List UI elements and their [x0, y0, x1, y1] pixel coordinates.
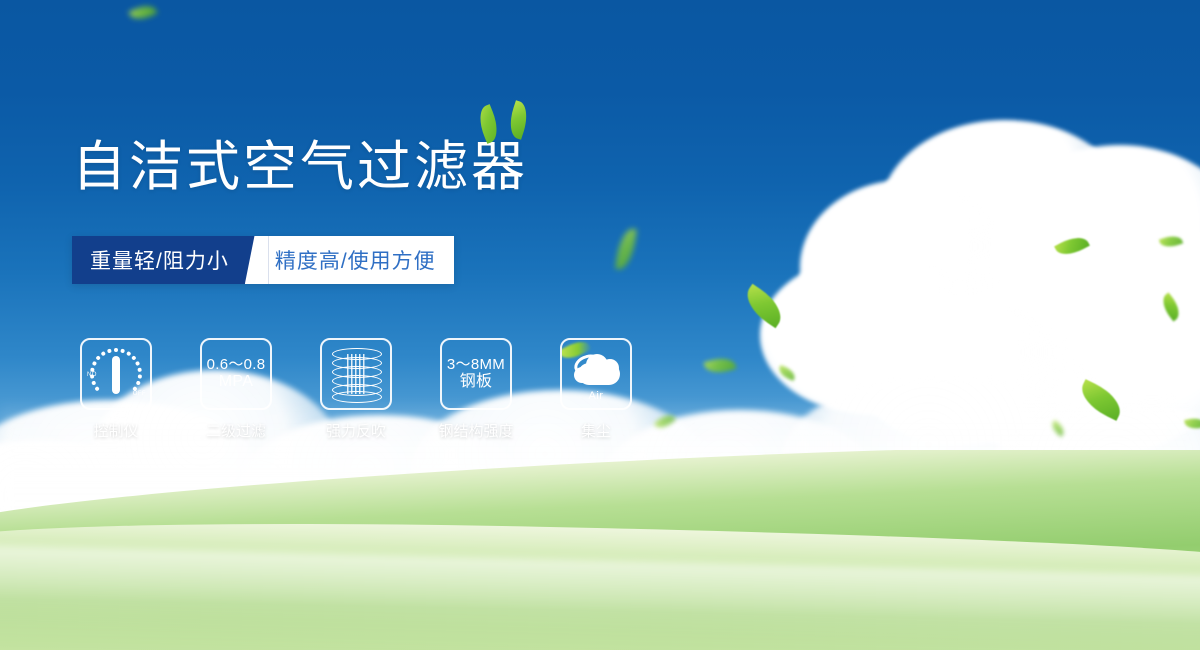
feature-item-controller: NO OFF 控制仪: [80, 338, 152, 441]
tagline-bar: 重量轻/阻力小 精度高/使用方便: [72, 236, 454, 284]
gauge-icon: NO OFF: [88, 346, 144, 402]
feature-item-dust: Air 集尘: [560, 338, 632, 441]
floating-leaf: [615, 227, 637, 271]
headline-block: 自洁式空气过滤器: [72, 140, 528, 194]
cloud-puff: [800, 180, 1010, 355]
feature-list: NO OFF 控制仪 0.6～0.8 MPA 二级过滤: [80, 338, 632, 441]
cloud-puff: [990, 145, 1200, 360]
gauge-needle: [112, 356, 120, 394]
feature-item-steel: 3～8MM 钢板 钢结构强度: [440, 338, 512, 441]
feature-icon-box: 3～8MM 钢板: [440, 338, 512, 410]
grass-field: [0, 450, 1200, 650]
leaf-sprout-decoration: [472, 98, 542, 148]
tagline-divider: [245, 236, 269, 284]
sprout-leaf-right: [505, 100, 532, 139]
feature-icon-box: NO OFF: [80, 338, 152, 410]
feature-label: 控制仪: [93, 420, 138, 441]
cloud-puff: [880, 120, 1130, 305]
sprout-leaf-left: [474, 104, 503, 144]
feature-icon-box: 0.6～0.8 MPA: [200, 338, 272, 410]
pressure-unit: MPA: [207, 373, 266, 391]
page-title: 自洁式空气过滤器: [72, 140, 528, 194]
feature-icon-box: Air: [560, 338, 632, 410]
feature-item-filtration: 0.6～0.8 MPA 二级过滤: [200, 338, 272, 441]
feature-label: 集尘: [581, 420, 611, 441]
gauge-label-no: NO: [87, 372, 97, 378]
feature-label: 钢结构强度: [439, 420, 514, 441]
air-icon-text: Air: [568, 390, 624, 402]
product-banner: 自洁式空气过滤器 重量轻/阻力小 精度高/使用方便: [0, 0, 1200, 650]
coil-airflow-icon: [332, 348, 380, 400]
air-cloud-icon: Air: [568, 349, 624, 399]
floating-leaf: [128, 1, 157, 23]
steel-thickness: 3～8MM: [447, 356, 505, 373]
coil-core: [347, 354, 365, 394]
feature-label: 强力反吹: [326, 420, 386, 441]
tagline-right: 精度高/使用方便: [269, 236, 454, 284]
pressure-value: 0.6～0.8: [207, 356, 266, 373]
feature-item-blowback: 强力反吹: [320, 338, 392, 441]
steel-material: 钢板: [447, 373, 505, 391]
gauge-label-off: OFF: [133, 391, 146, 397]
tagline-left: 重量轻/阻力小: [72, 236, 245, 284]
feature-icon-box: [320, 338, 392, 410]
feature-label: 二级过滤: [206, 420, 266, 441]
pressure-text-icon: 0.6～0.8 MPA: [207, 356, 266, 392]
steel-plate-text-icon: 3～8MM 钢板: [447, 356, 505, 392]
